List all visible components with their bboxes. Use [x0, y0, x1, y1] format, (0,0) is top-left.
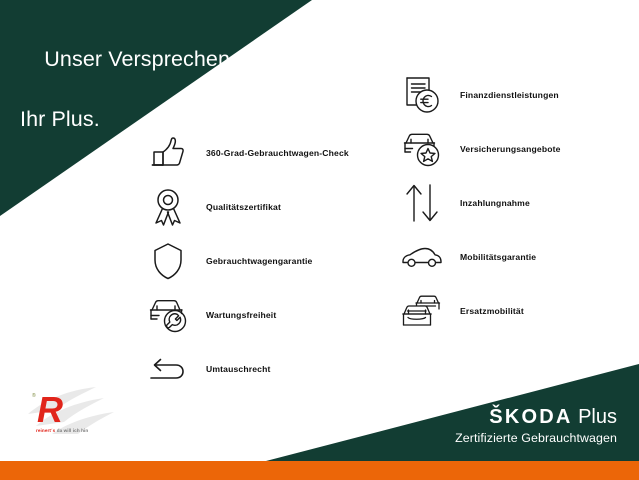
plus-wordmark: Plus: [573, 406, 617, 428]
dealer-tagline: reinert´s da will ich hin: [36, 428, 88, 433]
feature-item: 360-Grad-Gebrauchtwagen-Check: [146, 126, 349, 180]
car-star-icon: [400, 125, 444, 173]
feature-label: Versicherungsangebote: [460, 144, 561, 154]
quality-rosette-icon: [146, 183, 190, 231]
feature-item: Ersatzmobilität: [400, 284, 561, 338]
thumbs-up-icon: [146, 129, 190, 177]
feature-label: Umtauschrecht: [206, 364, 271, 374]
dealer-tagline-rest: da will ich hin: [57, 428, 89, 433]
headline-line-1: Unser Versprechen.: [44, 47, 236, 71]
shield-icon: [146, 237, 190, 285]
feature-label: Inzahlungnahme: [460, 198, 530, 208]
document-euro-icon: [400, 71, 444, 119]
up-down-arrows-icon: [400, 179, 444, 227]
dealer-letter-r: R: [37, 392, 62, 428]
skoda-logo-subtitle: Zertifizierte Gebrauchtwagen: [455, 430, 617, 446]
feature-label: Finanzdienstleistungen: [460, 90, 559, 100]
two-cars-icon: [400, 287, 444, 335]
feature-item: Umtauschrecht: [146, 342, 349, 396]
feature-label: 360-Grad-Gebrauchtwagen-Check: [206, 148, 349, 158]
feature-item: Inzahlungnahme: [400, 176, 561, 230]
feature-label: Mobilitätsgarantie: [460, 252, 536, 262]
orange-footer-bar: [0, 461, 639, 480]
car-wrench-icon: [146, 291, 190, 339]
promo-banner: Unser Versprechen. Ihr Plus. 360-Grad-Ge…: [0, 0, 639, 480]
feature-label: Ersatzmobilität: [460, 306, 524, 316]
feature-label: Wartungsfreiheit: [206, 310, 276, 320]
feature-item: Gebrauchtwagengarantie: [146, 234, 349, 288]
skoda-logo-line-1: ŠKODA Plus: [455, 406, 617, 429]
dealer-tagline-strong: reinert´s: [36, 428, 55, 433]
skoda-wordmark: ŠKODA: [489, 406, 572, 428]
feature-item: Finanzdienstleistungen: [400, 68, 561, 122]
feature-item: Mobilitätsgarantie: [400, 230, 561, 284]
dealer-logo: ® R reinert´s da will ich hin: [26, 386, 118, 438]
feature-item: Versicherungsangebote: [400, 122, 561, 176]
skoda-plus-logo: ŠKODA Plus Zertifizierte Gebrauchtwagen: [455, 406, 617, 446]
car-side-icon: [400, 233, 444, 281]
feature-label: Gebrauchtwagengarantie: [206, 256, 312, 266]
feature-item: Wartungsfreiheit: [146, 288, 349, 342]
feature-label: Qualitätszertifikat: [206, 202, 281, 212]
feature-list-left: 360-Grad-Gebrauchtwagen-Check Qualitätsz…: [146, 126, 349, 396]
feature-list-right: Finanzdienstleistungen Versicherungsange…: [400, 68, 561, 338]
return-arrow-icon: [146, 345, 190, 393]
feature-item: Qualitätszertifikat: [146, 180, 349, 234]
registered-mark: ®: [32, 393, 36, 399]
